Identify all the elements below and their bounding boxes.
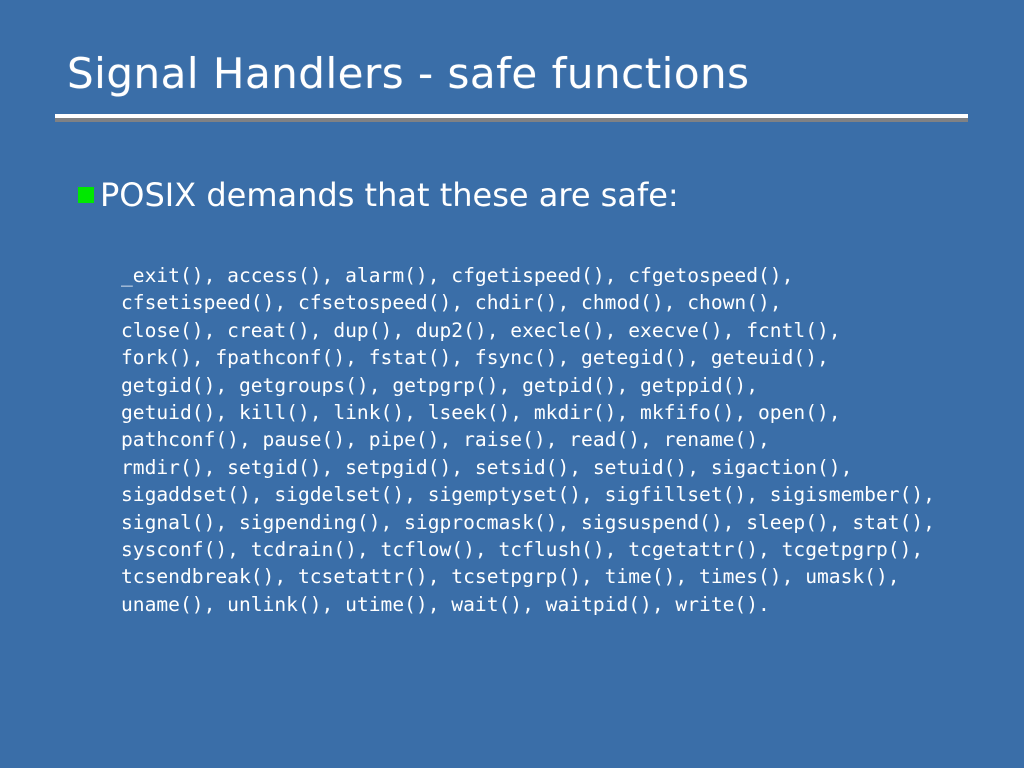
bullet-item: POSIX demands that these are safe: xyxy=(78,175,679,215)
presentation-slide: Signal Handlers - safe functions POSIX d… xyxy=(0,0,1024,768)
function-list-line: cfsetispeed(), cfsetospeed(), chdir(), c… xyxy=(121,289,1001,316)
function-list-line: sigaddset(), sigdelset(), sigemptyset(),… xyxy=(121,481,1001,508)
page-title: Signal Handlers - safe functions xyxy=(55,48,970,100)
title-block: Signal Handlers - safe functions xyxy=(55,48,970,100)
safe-function-list: _exit(), access(), alarm(), cfgetispeed(… xyxy=(121,262,1001,618)
function-list-line: signal(), sigpending(), sigprocmask(), s… xyxy=(121,509,1001,536)
function-list-line: uname(), unlink(), utime(), wait(), wait… xyxy=(121,591,1001,618)
function-list-line: tcsendbreak(), tcsetattr(), tcsetpgrp(),… xyxy=(121,563,1001,590)
function-list-line: pathconf(), pause(), pipe(), raise(), re… xyxy=(121,426,1001,453)
function-list-line: getuid(), kill(), link(), lseek(), mkdir… xyxy=(121,399,1001,426)
square-bullet-icon xyxy=(78,187,94,203)
function-list-line: rmdir(), setgid(), setpgid(), setsid(), … xyxy=(121,454,1001,481)
function-list-line: fork(), fpathconf(), fstat(), fsync(), g… xyxy=(121,344,1001,371)
bullet-item-label: POSIX demands that these are safe: xyxy=(100,175,679,215)
function-list-line: sysconf(), tcdrain(), tcflow(), tcflush(… xyxy=(121,536,1001,563)
title-underline-shadow xyxy=(55,118,968,122)
function-list-line: getgid(), getgroups(), getpgrp(), getpid… xyxy=(121,372,1001,399)
function-list-line: _exit(), access(), alarm(), cfgetispeed(… xyxy=(121,262,1001,289)
function-list-line: close(), creat(), dup(), dup2(), execle(… xyxy=(121,317,1001,344)
